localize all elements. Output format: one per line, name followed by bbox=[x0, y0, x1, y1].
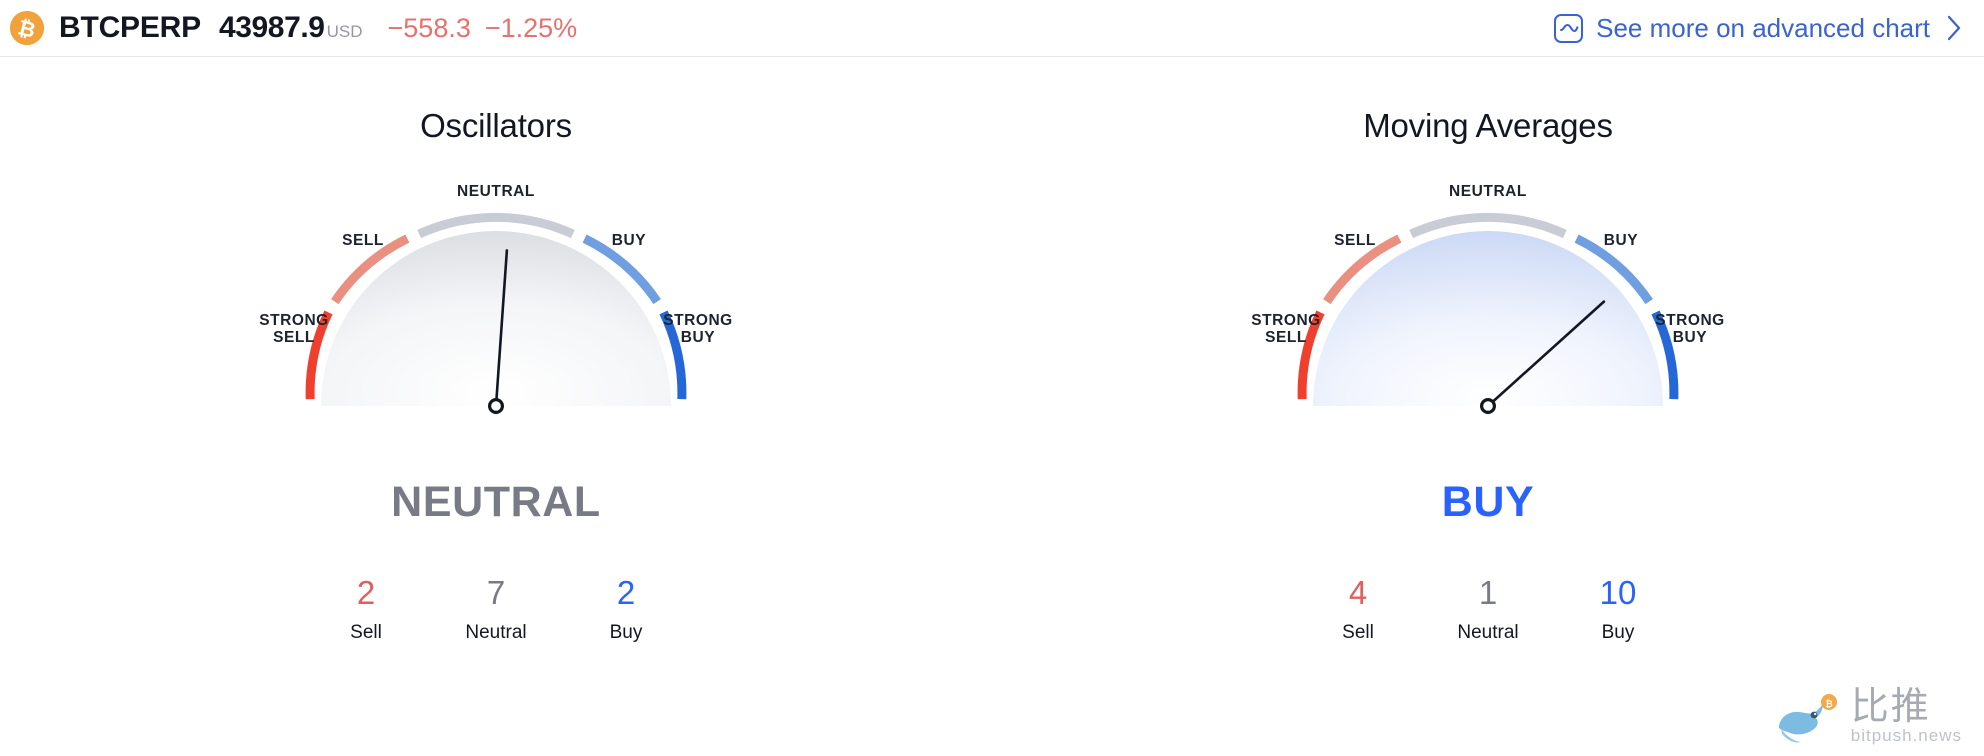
counter-sell-value: 2 bbox=[301, 573, 431, 613]
counter-neutral: 7 Neutral bbox=[431, 573, 561, 644]
change-percent: −1.25% bbox=[485, 13, 577, 44]
panel-title-oscillators: Oscillators bbox=[0, 107, 992, 145]
counter-buy-value: 10 bbox=[1553, 573, 1683, 613]
ticker-symbol: BTCPERP bbox=[59, 11, 201, 45]
gauge-label-strong-sell: STRONG SELL bbox=[1226, 312, 1346, 346]
counter-neutral: 1 Neutral bbox=[1423, 573, 1553, 644]
counter-sell: 4 Sell bbox=[1293, 573, 1423, 644]
gauge-oscillators: STRONG SELL SELL NEUTRAL BUY STRONG BUY bbox=[266, 188, 726, 420]
gauge-label-neutral: NEUTRAL bbox=[1449, 183, 1527, 200]
counter-buy-label: Buy bbox=[1553, 622, 1683, 644]
gauge-label-strong-buy: STRONG BUY bbox=[638, 312, 758, 346]
counter-buy-label: Buy bbox=[561, 622, 691, 644]
advanced-chart-label: See more on advanced chart bbox=[1596, 13, 1930, 44]
chevron-right-icon bbox=[1946, 14, 1962, 42]
gauge-label-sell: SELL bbox=[318, 232, 408, 249]
counter-buy: 2 Buy bbox=[561, 573, 691, 644]
counters-oscillators: 2 Sell 7 Neutral 2 Buy bbox=[301, 573, 691, 644]
panel-title-moving-averages: Moving Averages bbox=[992, 107, 1984, 145]
quote-header: ₿ BTCPERP 43987.9 USD −558.3 −1.25% See … bbox=[0, 0, 1984, 57]
counter-buy: 10 Buy bbox=[1553, 573, 1683, 644]
gauge-label-buy: BUY bbox=[1576, 232, 1666, 249]
gauge-label-neutral: NEUTRAL bbox=[457, 183, 535, 200]
wave-chart-icon bbox=[1554, 14, 1583, 43]
currency-label: USD bbox=[327, 22, 363, 42]
symbol-group: ₿ BTCPERP 43987.9 USD −558.3 −1.25% bbox=[10, 11, 577, 45]
counter-neutral-value: 7 bbox=[431, 573, 561, 613]
counter-sell-label: Sell bbox=[301, 622, 431, 644]
gauge-label-buy: BUY bbox=[584, 232, 674, 249]
last-price: 43987.9 bbox=[219, 11, 325, 45]
panel-oscillators: Oscillators bbox=[0, 58, 992, 756]
verdict-moving-averages: BUY bbox=[992, 478, 1984, 527]
counter-neutral-label: Neutral bbox=[1423, 622, 1553, 644]
counter-buy-value: 2 bbox=[561, 573, 691, 613]
gauge-label-strong-sell: STRONG SELL bbox=[234, 312, 354, 346]
bitcoin-icon: ₿ bbox=[10, 11, 44, 45]
panel-moving-averages: Moving Averages bbox=[992, 58, 1984, 756]
gauge-label-sell: SELL bbox=[1310, 232, 1400, 249]
verdict-oscillators: NEUTRAL bbox=[0, 478, 992, 527]
advanced-chart-link[interactable]: See more on advanced chart bbox=[1554, 13, 1962, 44]
counter-sell-label: Sell bbox=[1293, 622, 1423, 644]
gauge-moving-averages: STRONG SELL SELL NEUTRAL BUY STRONG BUY bbox=[1258, 188, 1718, 420]
counter-neutral-value: 1 bbox=[1423, 573, 1553, 613]
counter-sell: 2 Sell bbox=[301, 573, 431, 644]
counter-neutral-label: Neutral bbox=[431, 622, 561, 644]
counters-moving-averages: 4 Sell 1 Neutral 10 Buy bbox=[1293, 573, 1683, 644]
change-absolute: −558.3 bbox=[388, 13, 471, 44]
counter-sell-value: 4 bbox=[1293, 573, 1423, 613]
gauge-label-strong-buy: STRONG BUY bbox=[1630, 312, 1750, 346]
gauge-panels: Oscillators bbox=[0, 58, 1984, 756]
